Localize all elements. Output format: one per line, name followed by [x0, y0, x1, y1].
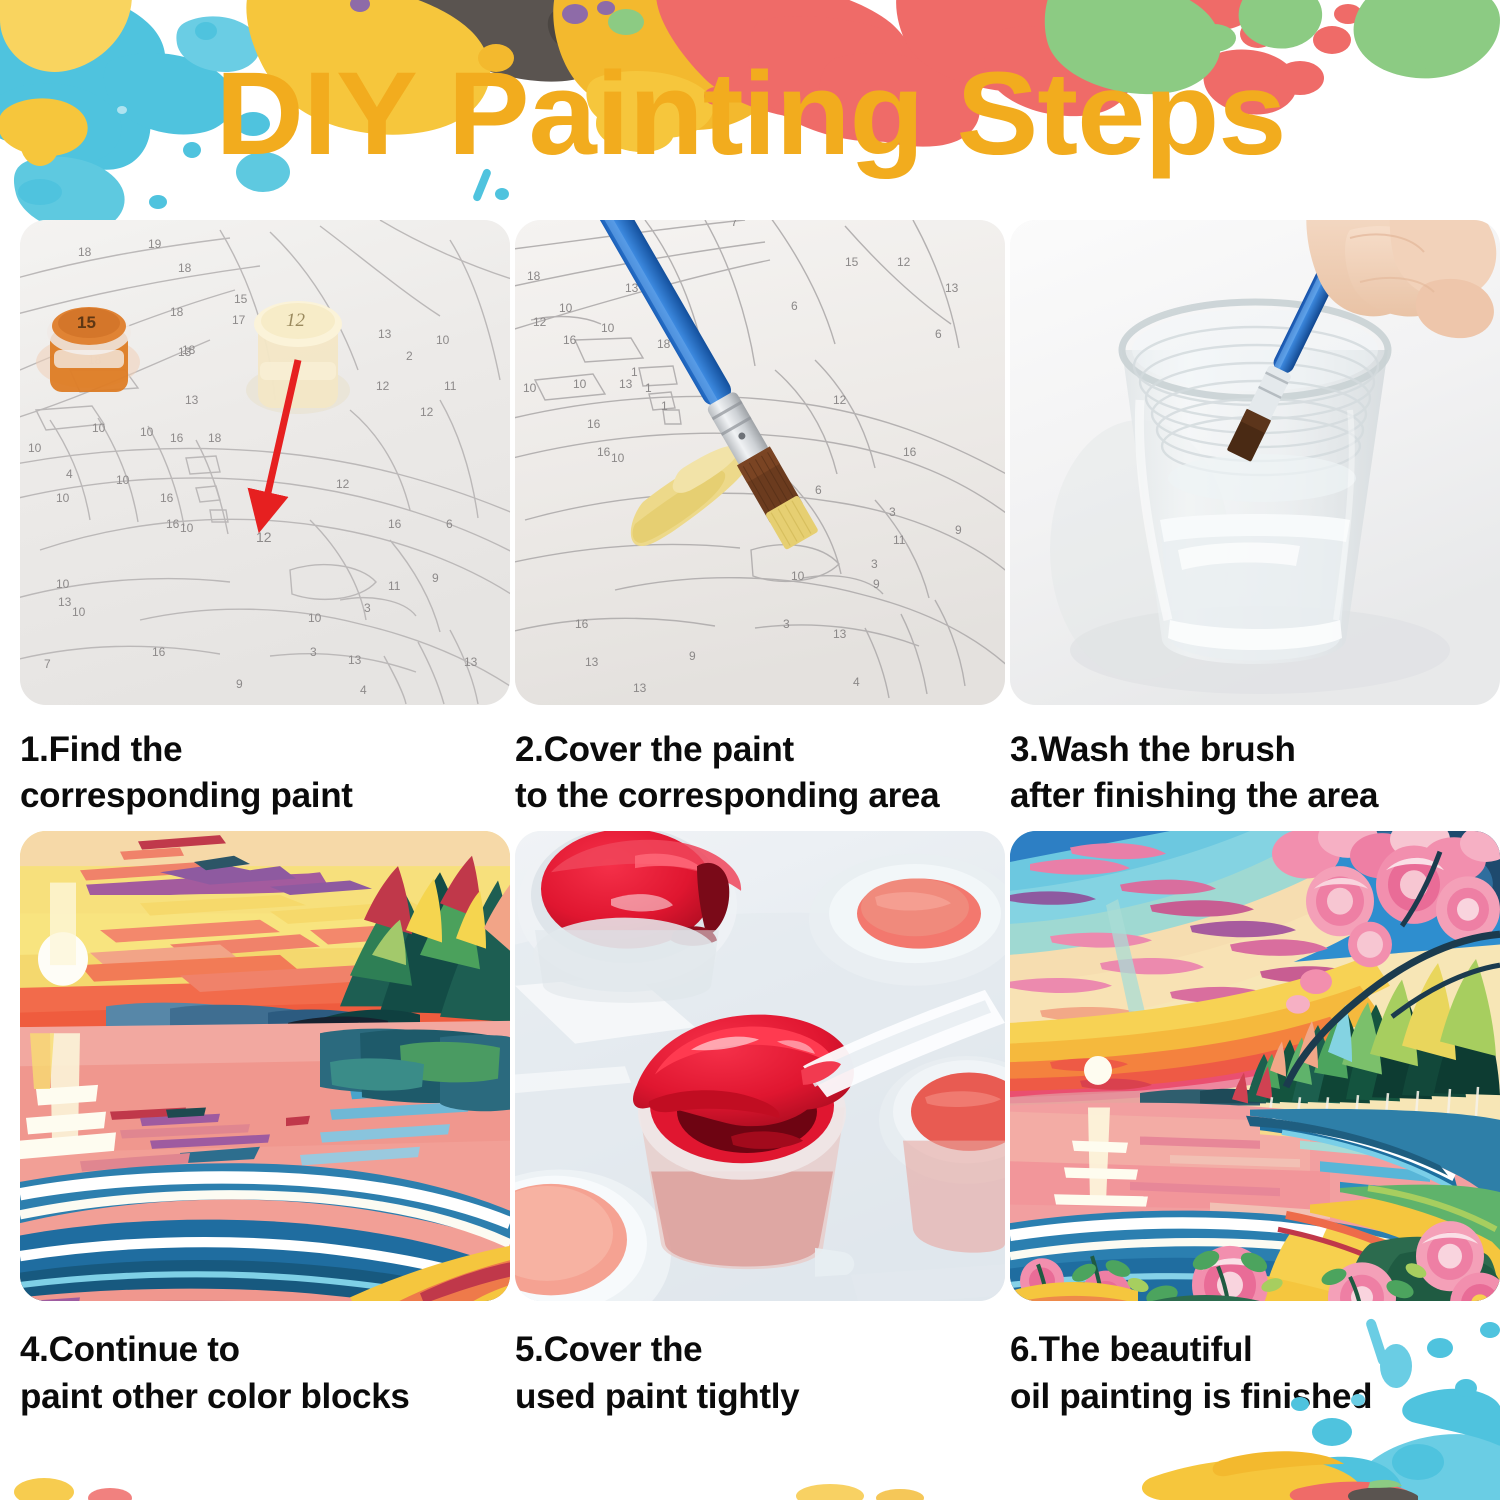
step-caption-1-line1: 1.Find the	[20, 730, 182, 769]
svg-text:9: 9	[432, 571, 439, 585]
svg-text:3: 3	[783, 617, 790, 631]
svg-text:10: 10	[56, 577, 70, 591]
diy-painting-steps-infographic: DIY Painting Steps	[0, 0, 1500, 1500]
svg-text:16: 16	[903, 445, 917, 459]
steps-grid: 181918 181318 151718 13210 131810 101016…	[20, 220, 1490, 1420]
step-caption-4: 4.Continue to paint other color blocks	[20, 1327, 510, 1419]
svg-text:13: 13	[833, 627, 847, 641]
svg-text:13: 13	[633, 681, 647, 695]
svg-text:13: 13	[185, 393, 199, 407]
step-caption-2-line2: to the corresponding area	[515, 773, 1005, 819]
paint-pot-12: 12	[246, 301, 350, 414]
svg-text:16: 16	[563, 333, 577, 347]
svg-text:12: 12	[833, 393, 847, 407]
step-caption-3: 3.Wash the brush after finishing the are…	[1010, 727, 1500, 819]
page-title-wrapper: DIY Painting Steps	[0, 44, 1500, 184]
svg-text:15: 15	[845, 255, 859, 269]
svg-text:18: 18	[178, 261, 192, 275]
step-caption-2-line1: 2.Cover the paint	[515, 730, 794, 769]
svg-text:18: 18	[527, 269, 541, 283]
photo-partially-painted-canvas	[20, 831, 510, 1301]
step-caption-1: 1.Find the corresponding paint	[20, 727, 510, 819]
svg-text:12: 12	[376, 379, 390, 393]
svg-text:16: 16	[166, 517, 180, 531]
svg-text:15: 15	[77, 313, 96, 332]
step-caption-3-line2: after finishing the area	[1010, 773, 1500, 819]
svg-text:10: 10	[308, 611, 322, 625]
svg-text:19: 19	[148, 237, 162, 251]
svg-text:4: 4	[853, 675, 860, 689]
svg-text:3: 3	[871, 557, 878, 571]
svg-text:10: 10	[791, 569, 805, 583]
svg-text:13: 13	[464, 655, 478, 669]
svg-text:3: 3	[364, 601, 371, 615]
step-caption-5-line1: 5.Cover the	[515, 1330, 702, 1369]
step-caption-6-line2: oil painting is finished	[1010, 1374, 1500, 1420]
svg-text:18: 18	[170, 305, 184, 319]
step-caption-5: 5.Cover the used paint tightly	[515, 1327, 1005, 1419]
svg-text:2: 2	[406, 349, 413, 363]
paint-pot-open-top-left	[517, 831, 741, 1003]
svg-text:13: 13	[348, 653, 362, 667]
svg-text:10: 10	[56, 491, 70, 505]
svg-text:7: 7	[731, 220, 738, 229]
svg-text:10: 10	[28, 441, 42, 455]
svg-text:6: 6	[446, 517, 453, 531]
svg-text:10: 10	[180, 521, 194, 535]
svg-text:10: 10	[116, 473, 130, 487]
svg-text:16: 16	[597, 445, 611, 459]
step-caption-6-line1: 6.The beautiful	[1010, 1330, 1252, 1369]
step-caption-5-line2: used paint tightly	[515, 1374, 1005, 1420]
svg-text:13: 13	[945, 281, 959, 295]
splatter-yellow-bottom-right	[1142, 1451, 1418, 1500]
svg-text:16: 16	[170, 431, 184, 445]
svg-text:6: 6	[791, 299, 798, 313]
svg-text:13: 13	[619, 377, 633, 391]
svg-text:13: 13	[378, 327, 392, 341]
photo-finished-oil-painting	[1010, 831, 1500, 1301]
svg-text:18: 18	[78, 245, 92, 259]
svg-text:9: 9	[236, 677, 243, 691]
svg-text:16: 16	[160, 491, 174, 505]
photo-find-corresponding-paint: 181918 181318 151718 13210 131810 101016…	[20, 220, 510, 705]
step-caption-2: 2.Cover the paint to the corresponding a…	[515, 727, 1005, 819]
splatter-purple-top	[350, 0, 615, 24]
svg-text:12: 12	[256, 529, 272, 545]
step-caption-3-line1: 3.Wash the brush	[1010, 730, 1296, 769]
svg-text:6: 6	[935, 327, 942, 341]
svg-text:12: 12	[336, 477, 350, 491]
step-card-4: 4.Continue to paint other color blocks	[20, 831, 510, 1419]
page-title: DIY Painting Steps	[215, 55, 1285, 173]
svg-text:18: 18	[657, 337, 671, 351]
svg-text:10: 10	[140, 425, 154, 439]
svg-text:11: 11	[444, 379, 457, 393]
svg-text:9: 9	[873, 577, 880, 591]
splatter-bottom-left	[14, 1478, 924, 1500]
svg-text:16: 16	[587, 417, 601, 431]
svg-text:9: 9	[689, 649, 696, 663]
svg-text:10: 10	[611, 451, 625, 465]
svg-text:6: 6	[815, 483, 822, 497]
svg-text:16: 16	[152, 645, 166, 659]
svg-text:4: 4	[66, 467, 73, 481]
svg-text:4: 4	[360, 683, 367, 697]
svg-text:12: 12	[533, 315, 547, 329]
svg-text:10: 10	[92, 421, 106, 435]
svg-text:15: 15	[234, 292, 248, 306]
svg-text:11: 11	[388, 579, 401, 593]
svg-text:10: 10	[601, 321, 615, 335]
step-caption-4-line1: 4.Continue to	[20, 1330, 240, 1369]
svg-text:16: 16	[388, 517, 402, 531]
svg-text:13: 13	[585, 655, 599, 669]
photo-cover-paint-area: 181310 121016 181010 1131 11616 101512 1…	[515, 220, 1005, 705]
svg-text:9: 9	[955, 523, 962, 537]
svg-text:18: 18	[182, 343, 196, 357]
svg-text:7: 7	[44, 657, 51, 671]
svg-text:11: 11	[893, 533, 906, 547]
svg-text:17: 17	[232, 313, 246, 327]
svg-text:12: 12	[420, 405, 434, 419]
svg-text:3: 3	[889, 505, 896, 519]
svg-text:13: 13	[58, 595, 72, 609]
svg-text:1: 1	[661, 399, 668, 413]
plastic-water-cup	[1122, 302, 1388, 664]
step-caption-4-line2: paint other color blocks	[20, 1374, 510, 1420]
step-card-6: 6.The beautiful oil painting is finished	[1010, 831, 1500, 1419]
photo-wash-brush	[1010, 220, 1500, 705]
svg-text:12: 12	[286, 310, 306, 331]
svg-text:12: 12	[897, 255, 911, 269]
step-caption-6: 6.The beautiful oil painting is finished	[1010, 1327, 1500, 1419]
svg-text:10: 10	[436, 333, 450, 347]
svg-text:10: 10	[72, 605, 86, 619]
svg-text:10: 10	[559, 301, 573, 315]
photo-cover-used-paint	[515, 831, 1005, 1301]
step-card-5: 5.Cover the used paint tightly	[515, 831, 1005, 1419]
svg-text:10: 10	[573, 377, 587, 391]
step-card-1: 181918 181318 151718 13210 131810 101016…	[20, 220, 510, 819]
step-card-2: 181310 121016 181010 1131 11616 101512 1…	[515, 220, 1005, 819]
svg-text:18: 18	[208, 431, 222, 445]
svg-text:16: 16	[575, 617, 589, 631]
step-card-3: 3.Wash the brush after finishing the are…	[1010, 220, 1500, 819]
svg-text:1: 1	[645, 381, 652, 395]
svg-text:3: 3	[310, 645, 317, 659]
svg-text:10: 10	[523, 381, 537, 395]
step-caption-1-line2: corresponding paint	[20, 773, 510, 819]
